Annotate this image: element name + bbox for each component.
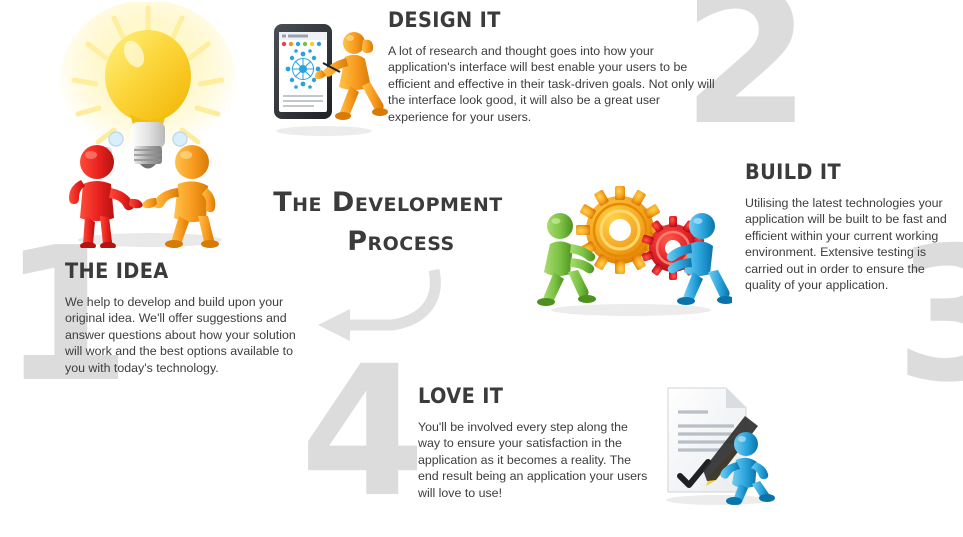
curved-arrow-icon [296, 268, 446, 350]
page-title-line-2: Process [243, 222, 533, 261]
step-body-build: Utilising the latest technologies your a… [745, 195, 960, 293]
step-body-design: A lot of research and thought goes into … [388, 43, 718, 125]
gears-two-people-icon [530, 182, 732, 316]
lightbulb-two-people-icon [52, 2, 248, 248]
step-block-design: DESIGN IT A lot of research and thought … [388, 8, 718, 125]
step-number-4: 4 [300, 363, 422, 503]
step-block-idea: THE IDEA We help to develop and build up… [65, 259, 297, 376]
step-heading-love: LOVE IT [418, 384, 631, 408]
infographic-canvas: 1 2 3 4 The Development Process [0, 0, 963, 508]
page-title: The Development Process [243, 183, 533, 261]
step-body-idea: We help to develop and build upon your o… [65, 294, 297, 376]
step-block-love: LOVE IT You'll be involved every step al… [418, 384, 650, 501]
tablet-designer-icon [262, 16, 388, 138]
step-heading-design: DESIGN IT [388, 8, 692, 32]
step-heading-build: BUILD IT [745, 160, 943, 184]
step-block-build: BUILD IT Utilising the latest technologi… [745, 160, 960, 293]
document-checkmark-person-icon [650, 382, 786, 506]
page-title-line-1: The Development [273, 187, 503, 218]
step-heading-idea: THE IDEA [65, 259, 278, 283]
step-body-love: You'll be involved every step along the … [418, 419, 650, 501]
